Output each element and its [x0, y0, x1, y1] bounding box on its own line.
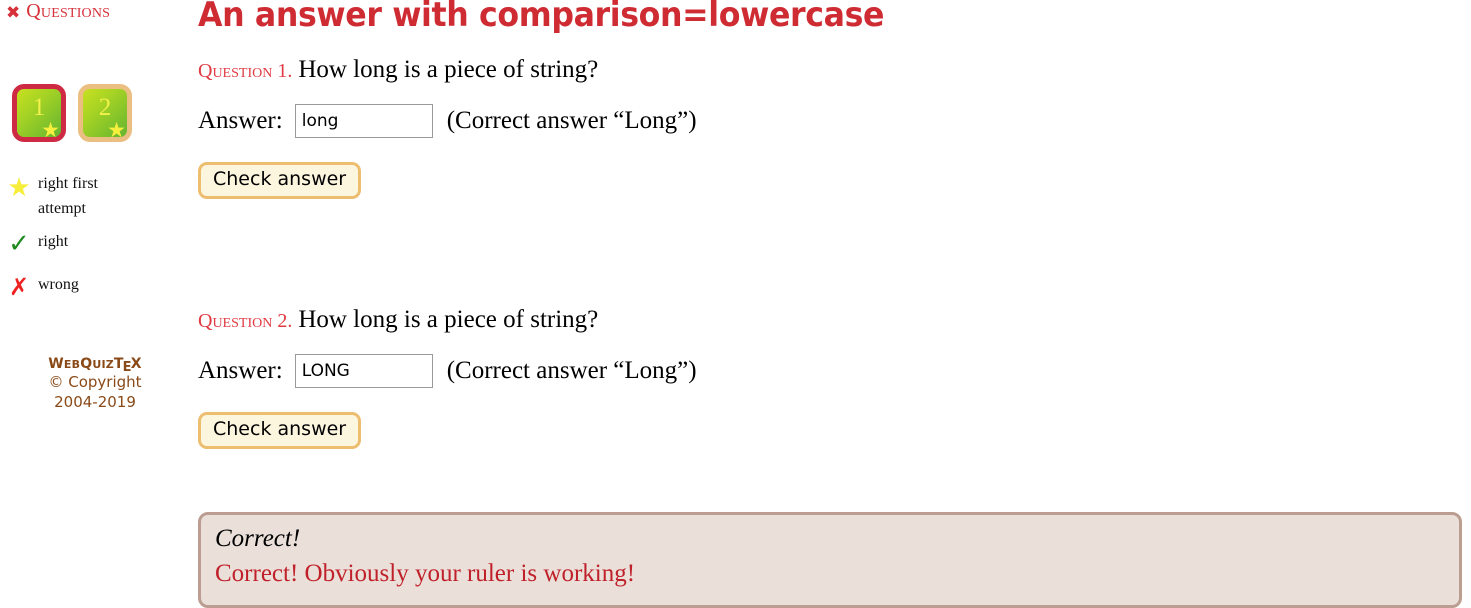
answer-input[interactable] — [295, 354, 433, 388]
correct-answer-note: (Correct answer “Long”) — [447, 357, 697, 385]
legend-label: right — [38, 230, 68, 255]
correct-answer-note: (Correct answer “Long”) — [447, 107, 697, 135]
answer-row: Answer: (Correct answer “Long”) — [198, 104, 1463, 138]
check-icon: ✓ — [0, 230, 38, 257]
answer-row: Answer: (Correct answer “Long”) — [198, 354, 1463, 388]
close-icon[interactable]: ✖ — [6, 5, 20, 22]
question-marker: Question 2. — [198, 310, 292, 333]
logo-eb: EB — [64, 358, 80, 371]
question-nav-button-2[interactable]: 2 ★ — [78, 84, 132, 142]
feedback-message: Correct! Obviously your ruler is working… — [215, 556, 1445, 591]
legend-item-right: ✓ right — [0, 230, 190, 257]
check-answer-button[interactable]: Check answer — [198, 162, 361, 199]
legend-label: wrong — [38, 273, 79, 298]
question-text: How long is a piece of string? — [298, 306, 598, 334]
question-marker-word: Question — [198, 60, 272, 82]
legend-label: right first attempt — [38, 172, 136, 222]
answer-input[interactable] — [295, 104, 433, 138]
star-icon: ★ — [41, 120, 60, 141]
question-block-2: Question 2. How long is a piece of strin… — [198, 306, 1463, 449]
logo-uiz: UIZ — [92, 358, 114, 371]
logo-w: W — [48, 356, 64, 372]
legend-item-right-first-attempt: ★ right first attempt — [0, 172, 190, 222]
star-icon: ★ — [0, 172, 38, 201]
legend: ★ right first attempt ✓ right ✗ wrong — [0, 172, 190, 311]
logo-x: X — [131, 356, 142, 372]
feedback-box: Correct! Correct! Obviously your ruler i… — [198, 512, 1462, 608]
sidebar: ✖ Questions 1 ★ 2 ★ ★ right first attemp… — [0, 0, 190, 593]
question-heading: Question 1. How long is a piece of strin… — [198, 56, 1463, 84]
question-marker-number: 1. — [277, 60, 292, 82]
question-nav-button-1[interactable]: 1 ★ — [12, 84, 66, 142]
copyright-block: WEBQUIZTEX © Copyright 2004-2019 — [0, 356, 190, 413]
questions-header: ✖ Questions — [6, 0, 110, 23]
star-icon: ★ — [107, 120, 126, 141]
copyright-line-1: © Copyright — [0, 372, 190, 392]
logo-e: E — [123, 360, 132, 375]
question-marker-word: Question — [198, 310, 272, 332]
answer-label: Answer: — [198, 357, 283, 385]
logo-q: Q — [80, 356, 92, 372]
copyright-line-2: 2004-2019 — [0, 392, 190, 412]
page-title: An answer with comparison=lowercase — [198, 0, 884, 35]
main-content: An answer with comparison=lowercase Ques… — [198, 0, 1471, 593]
questions-header-label: Questions — [26, 0, 110, 23]
question-marker-number: 2. — [277, 310, 292, 332]
question-block-1: Question 1. How long is a piece of strin… — [198, 56, 1463, 199]
question-marker: Question 1. — [198, 60, 292, 83]
legend-item-wrong: ✗ wrong — [0, 273, 190, 299]
question-heading: Question 2. How long is a piece of strin… — [198, 306, 1463, 334]
question-nav-buttons: 1 ★ 2 ★ — [12, 84, 132, 142]
answer-label: Answer: — [198, 107, 283, 135]
cross-icon: ✗ — [0, 273, 38, 299]
check-answer-button[interactable]: Check answer — [198, 412, 361, 449]
question-text: How long is a piece of string? — [298, 56, 598, 84]
webquiztex-logo: WEBQUIZTEX — [0, 356, 190, 372]
feedback-title: Correct! — [215, 523, 1445, 556]
